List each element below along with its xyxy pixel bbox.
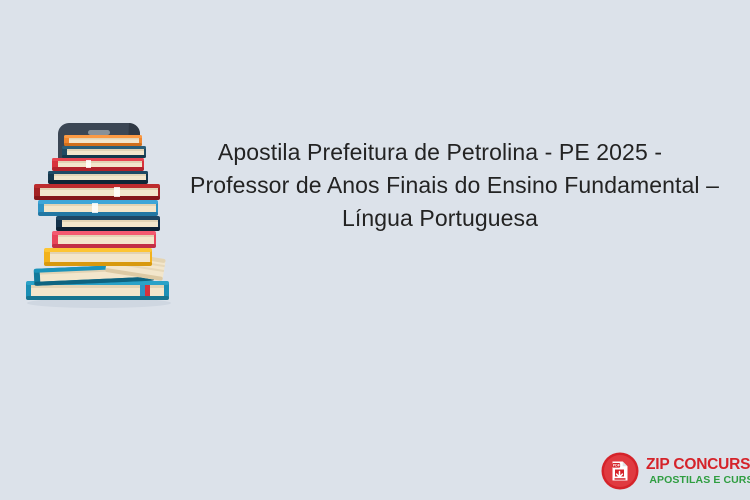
- pdf-download-icon-svg: PDF: [601, 452, 639, 490]
- title-line-1: Apostila Prefeitura de Petrolina - PE 20…: [190, 136, 690, 169]
- book-maroon: [34, 184, 160, 200]
- book-pink: [52, 231, 156, 248]
- book-cream-pages: [48, 171, 148, 184]
- pdf-download-icon: PDF: [601, 452, 639, 490]
- title-line-3: Língua Portuguesa: [190, 202, 690, 235]
- book-red-small: [52, 158, 144, 171]
- product-title: Apostila Prefeitura de Petrolina - PE 20…: [190, 136, 690, 235]
- title-line-2: Professor de Anos Finais do Ensino Funda…: [190, 169, 690, 202]
- logo-text-block: ZIP CONCURSOS APOSTILAS E CURSOS: [646, 457, 750, 486]
- books-illustration-svg: [14, 118, 184, 318]
- pdf-label: PDF: [613, 464, 621, 468]
- zip-concursos-logo[interactable]: PDF ZIP CONCURSOS APOSTILAS E CURSOS: [601, 450, 745, 492]
- book-yellow: [44, 248, 152, 266]
- logo-subtitle: APOSTILAS E CURSOS: [646, 475, 750, 486]
- product-banner: Apostila Prefeitura de Petrolina - PE 20…: [0, 0, 750, 500]
- book-navy-top: [62, 146, 146, 158]
- book-navy-1: [56, 216, 160, 231]
- logo-title: ZIP CONCURSOS: [646, 457, 750, 473]
- book-orange-top: [64, 135, 142, 146]
- book-blue: [38, 200, 158, 216]
- books-illustration: [14, 118, 184, 318]
